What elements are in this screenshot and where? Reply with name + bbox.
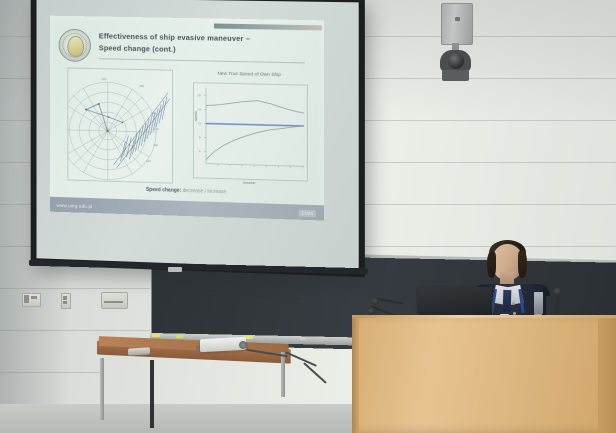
microphone-head-icon <box>554 288 561 295</box>
camera-status-led-icon <box>455 17 460 21</box>
camera-mount-box <box>441 3 473 45</box>
svg-text:300: 300 <box>151 111 156 115</box>
wooden-podium <box>352 318 616 433</box>
right-chart-ylabel: speed <box>194 101 198 131</box>
seal-shield-icon <box>67 36 84 57</box>
svg-text:000: 000 <box>102 77 107 81</box>
presenter-hair-side <box>518 251 527 278</box>
table-leg <box>281 352 285 397</box>
outlet-socket-icon <box>31 296 37 299</box>
svg-text:20: 20 <box>198 93 201 97</box>
slide-accent-bar <box>214 23 322 30</box>
table-leg <box>150 360 154 428</box>
switch-toggle-icon <box>63 301 67 304</box>
table-leg <box>100 358 104 420</box>
svg-text:4: 4 <box>199 149 201 153</box>
slide-caption: Speed change: decrease / increase <box>67 184 306 197</box>
presenter-hair-side <box>487 252 496 278</box>
presenter-necktie <box>503 290 512 312</box>
uniform-button-icon <box>512 302 515 305</box>
polar-collision-diagram: 330300 270240 210000 <box>67 67 173 183</box>
microphone-head-icon <box>368 308 375 315</box>
svg-text:12: 12 <box>198 121 201 125</box>
presentation-slide: Effectiveness of ship evasive maneuver –… <box>50 16 324 221</box>
slide-title-divider <box>99 58 305 63</box>
brick-seam <box>0 372 100 373</box>
slide-title: Effectiveness of ship evasive maneuver –… <box>99 30 304 57</box>
chalk-piece[interactable] <box>152 334 160 337</box>
new-true-speed-of-own-ship-chart: 2016 1284 <box>193 82 308 181</box>
outlet-socket-icon <box>24 295 29 303</box>
presentation-remote[interactable] <box>128 347 150 355</box>
switch-toggle-icon <box>63 296 67 300</box>
svg-text:8: 8 <box>199 135 201 139</box>
svg-text:330: 330 <box>139 84 144 88</box>
podium-left-side <box>352 318 359 433</box>
floor <box>0 404 352 433</box>
svg-text:270: 270 <box>154 127 159 131</box>
podium-right-panel <box>598 318 616 433</box>
svg-text:16: 16 <box>198 107 201 111</box>
brick-seam <box>0 330 150 331</box>
right-chart-title: New True Speed of Own Ship <box>193 70 306 77</box>
slide-caption-label: Speed change: <box>146 187 181 194</box>
presenter-shoulder-insignia <box>534 292 543 314</box>
university-seal-logo <box>59 29 91 62</box>
screen-pull-handle[interactable] <box>168 267 182 272</box>
lecture-hall-photo: Effectiveness of ship evasive maneuver –… <box>0 0 616 433</box>
svg-text:210: 210 <box>146 159 151 163</box>
polar-diagram-svg: 330300 270240 210000 <box>68 69 172 183</box>
camera-base <box>442 70 469 81</box>
line-chart-svg: 2016 1284 <box>194 83 307 180</box>
svg-text:240: 240 <box>153 143 158 147</box>
brick-seam <box>0 288 150 289</box>
chalk-piece[interactable] <box>300 337 306 340</box>
chalk-piece[interactable] <box>176 335 183 338</box>
slide-page-number: 17/24 <box>298 210 316 218</box>
junction-box-slot-icon <box>104 301 123 303</box>
projector-lens-icon <box>239 341 247 349</box>
slide-caption-value: decrease / increase <box>183 188 227 195</box>
microphone-head-icon <box>372 298 379 305</box>
camera-lens-icon <box>448 53 464 69</box>
